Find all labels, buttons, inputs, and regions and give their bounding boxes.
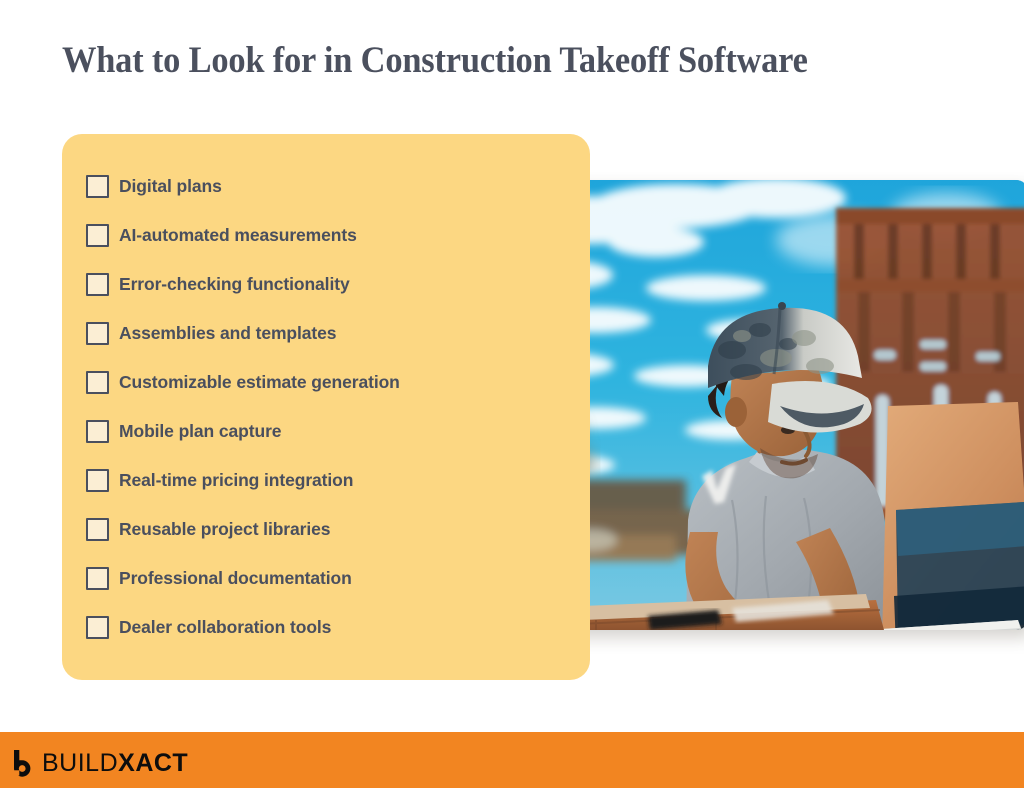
list-item[interactable]: Error-checking functionality: [86, 260, 580, 309]
list-item-label: Real-time pricing integration: [119, 470, 353, 491]
list-item[interactable]: Professional documentation: [86, 554, 580, 603]
checkbox-icon[interactable]: [86, 567, 109, 590]
checkbox-icon[interactable]: [86, 175, 109, 198]
checkbox-icon[interactable]: [86, 616, 109, 639]
checklist-card: Digital plans AI-automated measurements …: [62, 134, 590, 680]
logo-word-xact: XACT: [118, 749, 188, 777]
checkbox-icon[interactable]: [86, 420, 109, 443]
checkbox-icon[interactable]: [86, 273, 109, 296]
page-title: What to Look for in Construction Takeoff…: [62, 38, 918, 84]
list-item[interactable]: Assemblies and templates: [86, 309, 580, 358]
list-item[interactable]: AI-automated measurements: [86, 211, 580, 260]
list-item[interactable]: Reusable project libraries: [86, 505, 580, 554]
list-item-label: Reusable project libraries: [119, 519, 330, 540]
list-item[interactable]: Mobile plan capture: [86, 407, 580, 456]
buildxact-wordmark: BUILDXACT: [42, 749, 188, 777]
infographic-canvas: What to Look for in Construction Takeoff…: [0, 0, 1024, 788]
logo-word-build: BUILD: [42, 749, 118, 777]
list-item[interactable]: Digital plans: [86, 162, 580, 211]
checkbox-icon[interactable]: [86, 322, 109, 345]
buildxact-b-mark-icon: [12, 749, 38, 777]
list-item[interactable]: Dealer collaboration tools: [86, 603, 580, 652]
checkbox-icon[interactable]: [86, 518, 109, 541]
checkbox-icon[interactable]: [86, 469, 109, 492]
list-item-label: Assemblies and templates: [119, 323, 336, 344]
checkbox-icon[interactable]: [86, 224, 109, 247]
list-item-label: Mobile plan capture: [119, 421, 281, 442]
list-item-label: Error-checking functionality: [119, 274, 350, 295]
construction-worker-photo: [536, 180, 1024, 630]
list-item-label: Professional documentation: [119, 568, 352, 589]
buildxact-logo[interactable]: BUILDXACT: [12, 748, 188, 778]
checklist: Digital plans AI-automated measurements …: [86, 162, 580, 652]
list-item[interactable]: Real-time pricing integration: [86, 456, 580, 505]
checkbox-icon[interactable]: [86, 371, 109, 394]
list-item-label: Customizable estimate generation: [119, 372, 400, 393]
list-item-label: AI-automated measurements: [119, 225, 357, 246]
list-item-label: Dealer collaboration tools: [119, 617, 331, 638]
list-item-label: Digital plans: [119, 176, 222, 197]
list-item[interactable]: Customizable estimate generation: [86, 358, 580, 407]
